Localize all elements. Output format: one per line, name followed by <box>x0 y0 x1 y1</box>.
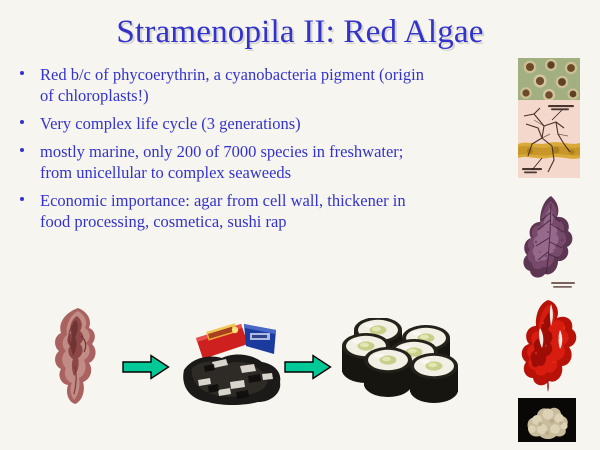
list-item: mostly marine, only 200 of 7000 species … <box>14 141 434 183</box>
filament-diagram-image <box>518 100 580 178</box>
right-image-column <box>518 58 584 444</box>
list-item: Red b/c of phycoerythrin, a cyanobacteri… <box>14 64 434 106</box>
bullet-text: Economic importance: agar from cell wall… <box>40 191 406 231</box>
list-item: Economic importance: agar from cell wall… <box>14 190 434 232</box>
process-arrow-1 <box>122 354 170 380</box>
dulse-frond-image <box>48 306 110 406</box>
bullet-text: Very complex life cycle (3 generations) <box>40 114 301 133</box>
bullet-text: mostly marine, only 200 of 7000 species … <box>40 142 403 182</box>
page-title: Stramenopila II: Red Algae <box>0 14 600 51</box>
sushi-rolls-image <box>338 318 460 404</box>
coralline-image <box>518 398 576 442</box>
process-arrow-2 <box>284 354 332 380</box>
bullet-dot-icon <box>20 120 24 124</box>
bullet-dot-icon <box>20 71 24 75</box>
bullet-text: Red b/c of phycoerythrin, a cyanobacteri… <box>40 65 424 105</box>
red-blade-image <box>518 298 584 394</box>
slide-canvas: Stramenopila II: Red Algae Red b/c of ph… <box>0 0 600 450</box>
bullet-list: Red b/c of phycoerythrin, a cyanobacteri… <box>14 64 434 239</box>
list-item: Very complex life cycle (3 generations) <box>14 113 434 134</box>
micrograph-image <box>518 58 580 100</box>
bullet-dot-icon <box>20 148 24 152</box>
nori-pile-image <box>178 318 286 406</box>
purple-seaweed-image <box>518 190 584 298</box>
bullet-dot-icon <box>20 197 24 201</box>
process-illustration-row <box>30 302 480 412</box>
